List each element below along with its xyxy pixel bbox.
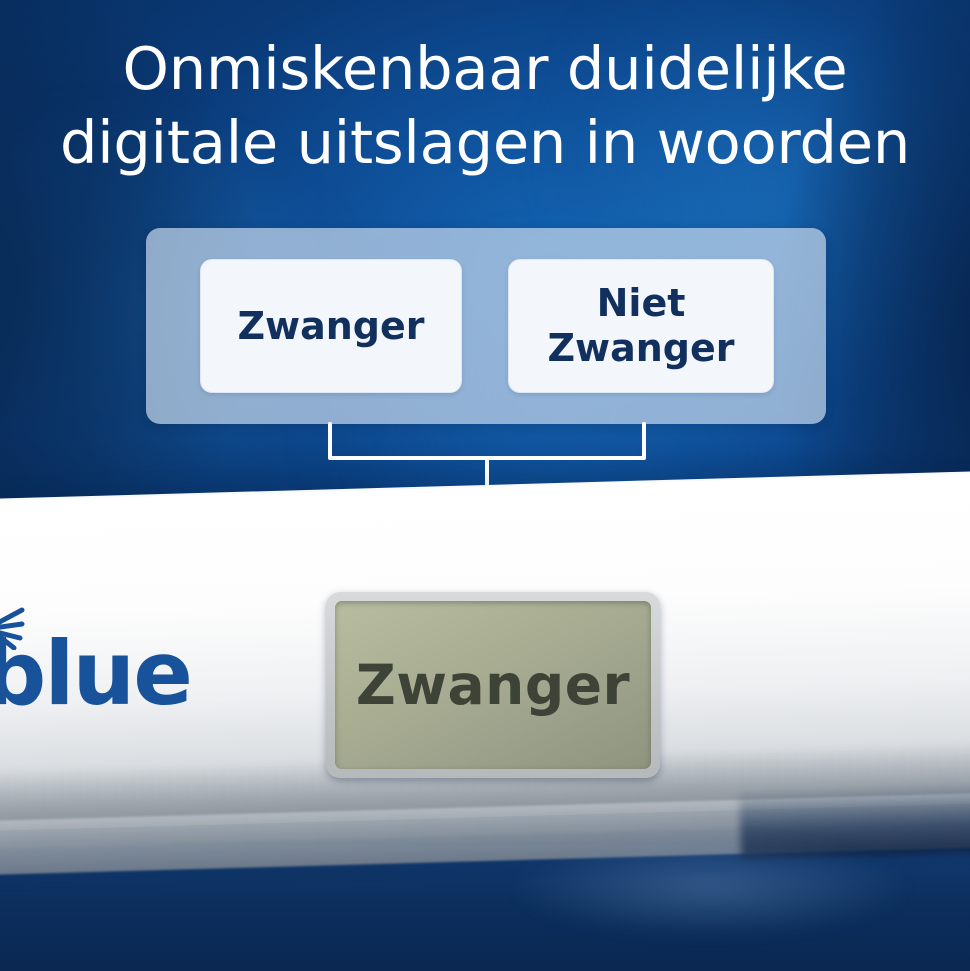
headline: Onmiskenbaar duidelijke digitale uitslag… — [0, 32, 970, 180]
lcd-result-text: Zwanger — [356, 655, 630, 715]
brand-wordmark: rblue — [0, 630, 191, 718]
lcd-screen: Zwanger — [335, 601, 651, 769]
promo-image: Onmiskenbaar duidelijke digitale uitslag… — [0, 0, 970, 971]
chip-not-pregnant-label-line-1: Niet — [597, 281, 686, 325]
chip-not-pregnant-label: Niet Zwanger — [547, 281, 734, 371]
headline-line-2: digitale uitslagen in woorden — [0, 106, 970, 180]
chip-not-pregnant: Niet Zwanger — [508, 259, 774, 393]
chip-pregnant-label: Zwanger — [237, 304, 424, 349]
lcd-bezel: Zwanger — [326, 592, 660, 778]
chip-not-pregnant-label-line-2: Zwanger — [547, 326, 734, 370]
headline-line-1: Onmiskenbaar duidelijke — [0, 32, 970, 106]
result-callout-panel: Zwanger Niet Zwanger — [146, 228, 826, 424]
chip-pregnant: Zwanger — [200, 259, 462, 393]
device-bottom-glow — [430, 827, 970, 971]
